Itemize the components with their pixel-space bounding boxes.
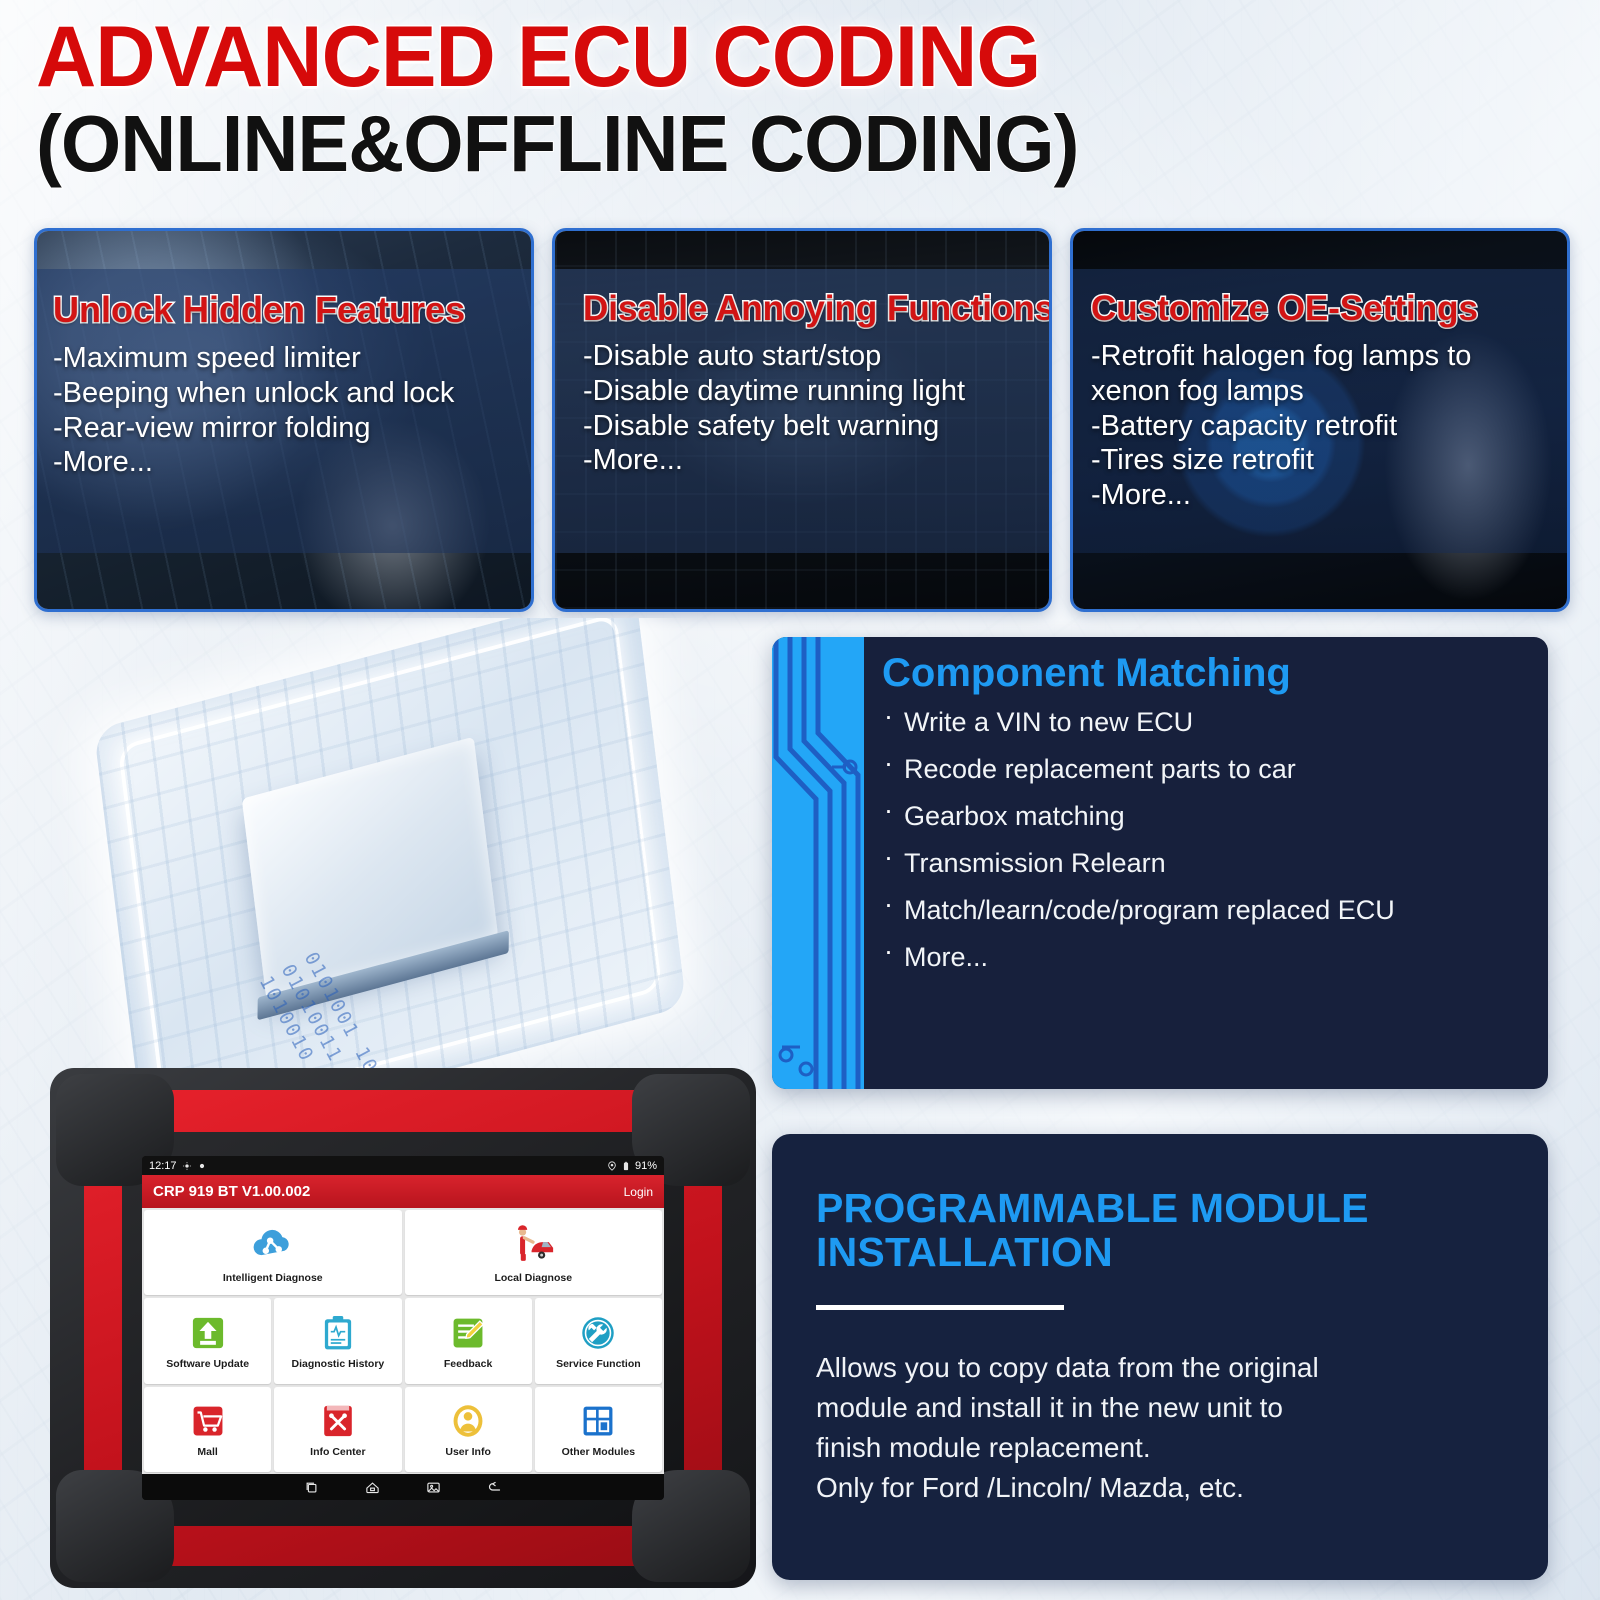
list-item: -More... [53, 445, 517, 480]
list-item: -Retrofit halogen fog lamps to [1091, 339, 1553, 374]
cloud-network-icon [250, 1222, 296, 1268]
grid-modules-icon [577, 1400, 619, 1442]
tile-service-function[interactable]: Service Function [535, 1298, 662, 1383]
list-item: xenon fog lamps [1091, 374, 1553, 409]
page-title-secondary: (ONLINE&OFFLINE CODING) [36, 104, 1520, 184]
list-item: -Disable daytime running light [583, 374, 1035, 409]
list-item: -Beeping when unlock and lock [53, 376, 517, 411]
tile-label: Other Modules [562, 1446, 636, 1458]
wrench-gear-icon [577, 1312, 619, 1354]
feature-card-unlock-hidden-features: Unlock Hidden Features -Maximum speed li… [34, 228, 534, 612]
tile-label: Info Center [310, 1446, 365, 1458]
cpu-chip-illustration: 0101001 1010 0110100101 0011 01010011 01… [20, 618, 760, 1118]
app-grid: Intelligent Diagnose Local Diagnose [142, 1208, 664, 1474]
tile-intelligent-diagnose[interactable]: Intelligent Diagnose [144, 1210, 402, 1295]
status-bar: 12:17 91% [142, 1156, 664, 1175]
tile-feedback[interactable]: Feedback [405, 1298, 532, 1383]
shopping-cart-icon [187, 1400, 229, 1442]
list-item: Gearbox matching [882, 793, 1532, 840]
back-icon[interactable] [487, 1480, 502, 1495]
book-tools-icon [317, 1400, 359, 1442]
divider-rule [816, 1305, 1064, 1310]
sync-icon [197, 1161, 207, 1171]
list-item: -Disable auto start/stop [583, 339, 1035, 374]
tile-label: Mall [197, 1446, 217, 1458]
card-heading: Unlock Hidden Features [53, 289, 517, 331]
mechanic-car-icon [510, 1222, 556, 1268]
edit-document-icon [447, 1312, 489, 1354]
panel-component-matching: Component Matching Write a VIN to new EC… [772, 637, 1548, 1089]
list-item: -More... [583, 443, 1035, 478]
tile-label: Local Diagnose [494, 1272, 572, 1284]
circuit-trace-svg [772, 637, 864, 1089]
location-icon [607, 1161, 617, 1171]
list-item: More... [882, 934, 1532, 981]
list-item: -Maximum speed limiter [53, 341, 517, 376]
card-bullet-list: -Retrofit halogen fog lamps to xenon fog… [1091, 339, 1553, 513]
app-grid-row: Mall Info Center [144, 1387, 662, 1472]
card-heading: Customize OE-Settings [1091, 289, 1553, 329]
header: ADVANCED ECU CODING (ONLINE&OFFLINE CODI… [36, 14, 1566, 184]
panel-heading-line1: PROGRAMMABLE MODULE [816, 1186, 1508, 1230]
card-bullet-list: -Maximum speed limiter -Beeping when unl… [53, 341, 517, 480]
list-item: Write a VIN to new ECU [882, 699, 1532, 746]
panel-body-line3: finish module replacement. [816, 1428, 1508, 1468]
panel-programmable-module-installation: PROGRAMMABLE MODULE INSTALLATION Allows … [772, 1134, 1548, 1580]
feature-card-customize-oe-settings: Customize OE-Settings -Retrofit halogen … [1070, 228, 1570, 612]
tile-label: Feedback [444, 1358, 492, 1370]
app-bar-title: CRP 919 BT V1.00.002 [153, 1183, 310, 1200]
page-title-primary: ADVANCED ECU CODING [36, 14, 1520, 102]
panel-body-line1: Allows you to copy data from the origina… [816, 1348, 1508, 1388]
battery-icon [621, 1161, 631, 1171]
list-item: -Battery capacity retrofit [1091, 409, 1553, 444]
tile-software-update[interactable]: Software Update [144, 1298, 271, 1383]
list-item: -Tires size retrofit [1091, 443, 1553, 478]
tablet-screen: 12:17 91% CRP 919 BT V1.00.002 Login [142, 1156, 664, 1500]
tile-other-modules[interactable]: Other Modules [535, 1387, 662, 1472]
tile-label: Software Update [166, 1358, 249, 1370]
card-heading: Disable Annoying Functions [583, 289, 1035, 329]
list-item: Recode replacement parts to car [882, 746, 1532, 793]
status-bar-right-group: 91% [607, 1160, 657, 1172]
clipboard-waveform-icon [317, 1312, 359, 1354]
status-bar-clock: 12:17 [149, 1160, 177, 1172]
tile-label: User Info [445, 1446, 491, 1458]
panel-heading: Component Matching [882, 651, 1532, 695]
upload-arrow-icon [187, 1312, 229, 1354]
circuit-trace-decor [772, 637, 864, 1089]
list-item: -Disable safety belt warning [583, 409, 1035, 444]
panel-heading-line2: INSTALLATION [816, 1230, 1508, 1274]
android-nav-bar [142, 1474, 664, 1500]
settings-gear-icon [182, 1161, 192, 1171]
diagnostic-tablet-device: 12:17 91% CRP 919 BT V1.00.002 Login [50, 1068, 756, 1588]
list-item: Match/learn/code/program replaced ECU [882, 887, 1532, 934]
tile-diagnostic-history[interactable]: Diagnostic History [274, 1298, 401, 1383]
battery-percent-label: 91% [635, 1160, 657, 1172]
list-item: -Rear-view mirror folding [53, 411, 517, 446]
feature-card-disable-annoying-functions: Disable Annoying Functions -Disable auto… [552, 228, 1052, 612]
recents-icon[interactable] [304, 1480, 319, 1495]
list-item: -More... [1091, 478, 1553, 513]
tile-user-info[interactable]: User Info [405, 1387, 532, 1472]
card-bullet-list: -Disable auto start/stop -Disable daytim… [583, 339, 1035, 478]
tile-info-center[interactable]: Info Center [274, 1387, 401, 1472]
tile-mall[interactable]: Mall [144, 1387, 271, 1472]
login-button[interactable]: Login [624, 1185, 653, 1199]
app-bar: CRP 919 BT V1.00.002 Login [142, 1175, 664, 1208]
app-grid-row: Software Update Diagnostic History [144, 1298, 662, 1383]
feature-card-group: Unlock Hidden Features -Maximum speed li… [34, 228, 1570, 612]
tile-label: Service Function [556, 1358, 641, 1370]
component-matching-list: Write a VIN to new ECU Recode replacemen… [882, 699, 1532, 981]
tile-label: Diagnostic History [291, 1358, 384, 1370]
tile-local-diagnose[interactable]: Local Diagnose [405, 1210, 663, 1295]
screenshot-icon[interactable] [426, 1480, 441, 1495]
user-avatar-icon [447, 1400, 489, 1442]
tile-label: Intelligent Diagnose [223, 1272, 323, 1284]
panel-body-line2: module and install it in the new unit to [816, 1388, 1508, 1428]
list-item: Transmission Relearn [882, 840, 1532, 887]
panel-body-line4: Only for Ford /Lincoln/ Mazda, etc. [816, 1468, 1508, 1508]
home-icon[interactable] [365, 1480, 380, 1495]
app-grid-row: Intelligent Diagnose Local Diagnose [144, 1210, 662, 1295]
